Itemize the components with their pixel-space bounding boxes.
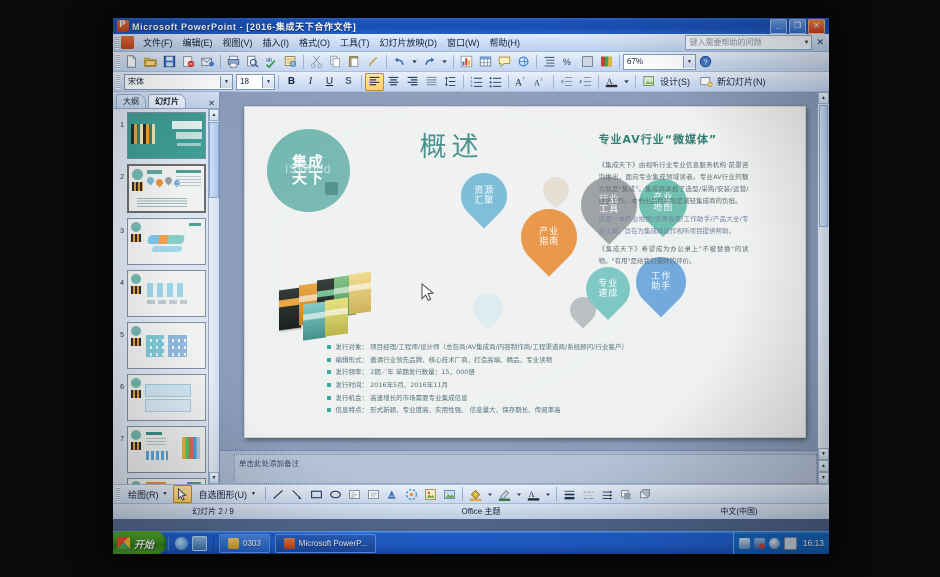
- font-size-combo[interactable]: 18 ▼: [236, 74, 275, 90]
- body-paragraph-2: 这是一本产业地图/资源指南/工作助手/产品大全/专业工具，旨在为集成商运作视听项…: [599, 213, 749, 237]
- scroll-down-icon[interactable]: ▼: [209, 472, 219, 484]
- list-item[interactable]: 5: [115, 322, 206, 369]
- pin-label: 产业指南: [538, 227, 558, 248]
- insert-table-icon[interactable]: [476, 53, 495, 71]
- shadow-style-icon[interactable]: [617, 485, 636, 503]
- quick-launch-bar: [168, 536, 214, 551]
- color-swatch-icon[interactable]: [597, 53, 616, 71]
- taskbar: 开始 0303 Microsoft PowerP...: [113, 531, 829, 554]
- menu-view[interactable]: 视图(V): [218, 35, 258, 50]
- network-icon[interactable]: [739, 538, 750, 549]
- bullet-item: 发行对象： 项目经理/工程师/设计师（总包商/AV集成商/内容制作商/工程渠道商…: [327, 341, 757, 354]
- right-section-title[interactable]: 专业AV行业“微媒体”: [599, 131, 718, 147]
- insert-comment-icon[interactable]: [495, 53, 514, 71]
- slide-thumbnail-3[interactable]: [127, 218, 206, 265]
- slide-thumbnail-4[interactable]: [127, 270, 206, 317]
- svg-text:3: 3: [470, 84, 472, 88]
- thumbnail-number: 8: [115, 478, 127, 484]
- open-folder-icon[interactable]: [141, 53, 160, 71]
- print-icon[interactable]: [224, 53, 243, 71]
- chevron-down-icon[interactable]: ▼: [262, 76, 274, 88]
- bullet-item: 编辑形式： 邀请行业领先品牌、核心技术厂商，打造高端、精品、专业读物: [327, 354, 757, 367]
- undo-dropdown-icon[interactable]: [409, 53, 420, 71]
- format-painter-icon[interactable]: [364, 53, 383, 71]
- decrease-font-icon[interactable]: A↓: [531, 73, 550, 91]
- taskbar-item-label: Microsoft PowerP...: [299, 539, 367, 548]
- font-name-combo[interactable]: 宋体 ▼: [124, 74, 233, 90]
- screenshot-root: Microsoft PowerPoint - [2016-集成天下合作文件] _…: [0, 0, 940, 577]
- list-item[interactable]: 3: [115, 218, 206, 265]
- align-right-icon[interactable]: [403, 73, 422, 91]
- scrollbar-thumb[interactable]: [209, 122, 219, 198]
- show-formatting-icon[interactable]: %: [559, 53, 578, 71]
- menu-slideshow[interactable]: 幻灯片放映(D): [375, 35, 443, 50]
- slide-thumbnail-6[interactable]: [127, 374, 206, 421]
- slide-canvas[interactable]: 集成 天下 ISWorld: [244, 106, 806, 438]
- font-color-icon[interactable]: A: [524, 485, 543, 503]
- zoom-value: 67%: [627, 57, 643, 66]
- font-color-icon[interactable]: A: [602, 73, 621, 91]
- font-name-value: 宋体: [128, 76, 144, 87]
- paste-icon[interactable]: [345, 53, 364, 71]
- brand-logo[interactable]: 集成 天下 ISWorld: [267, 129, 350, 212]
- pin-resource-gather[interactable]: 资源汇聚: [451, 163, 516, 228]
- autoshapes-label: 自选图形(U): [196, 488, 249, 501]
- undo-icon[interactable]: [390, 53, 409, 71]
- pin-label: 工作助手: [650, 272, 670, 293]
- thumbnail-number: 2: [115, 164, 127, 181]
- slides-pane-tabs: 大纲 幻灯片 ✕: [113, 92, 219, 109]
- taskbar-item-folder[interactable]: 0303: [219, 534, 270, 553]
- body-text[interactable]: 《集成天下》由视听行业专业信息服务机构·前景咨询推出，面向专业集成领域读者。专业…: [599, 159, 749, 273]
- bullet-item: 发行机会： 高速增长的市场需要专业集成信息: [327, 392, 757, 405]
- textbox-icon[interactable]: [345, 485, 364, 503]
- bullet-list[interactable]: 发行对象： 项目经理/工程师/设计师（总包商/AV集成商/内容制作商/工程渠道商…: [327, 341, 757, 417]
- svg-text:↑: ↑: [522, 76, 525, 82]
- align-center-icon[interactable]: [384, 73, 403, 91]
- close-pane-button[interactable]: ✕: [208, 99, 219, 108]
- draw-menu-button[interactable]: 绘图(R) ▼: [122, 485, 173, 503]
- design-button[interactable]: 设计(S): [639, 73, 696, 91]
- oval-icon[interactable]: [326, 485, 345, 503]
- svg-text:A: A: [529, 489, 535, 498]
- increase-indent-icon[interactable]: [576, 73, 595, 91]
- close-button[interactable]: ✕: [808, 19, 825, 34]
- logo-badge: [325, 182, 338, 195]
- help-icon[interactable]: ?: [696, 53, 715, 71]
- scroll-up-icon[interactable]: ▲: [818, 92, 829, 104]
- line-icon[interactable]: [269, 485, 288, 503]
- research-icon[interactable]: [281, 53, 300, 71]
- menu-help[interactable]: 帮助(H): [485, 35, 526, 50]
- slide-stage: 集成 天下 ISWorld: [220, 92, 829, 450]
- redo-dropdown-icon[interactable]: [439, 53, 450, 71]
- start-button[interactable]: 开始: [113, 532, 166, 554]
- svg-text:%: %: [563, 57, 571, 67]
- thumbnail-number: 4: [115, 270, 127, 287]
- slide-title[interactable]: 概述: [420, 125, 484, 164]
- chevron-down-icon: ▼: [249, 491, 258, 497]
- notes-placeholder[interactable]: 单击此处添加备注: [234, 454, 817, 484]
- list-item[interactable]: 2: [115, 164, 206, 213]
- body-paragraph-1: 《集成天下》由视听行业专业信息服务机构·前景咨询推出，面向专业集成领域读者。专业…: [599, 159, 749, 207]
- email-icon[interactable]: [198, 53, 217, 71]
- hyperlink-icon[interactable]: [514, 53, 533, 71]
- menu-tools[interactable]: 工具(T): [335, 35, 375, 50]
- line-style-icon[interactable]: [560, 485, 579, 503]
- svg-text:A: A: [515, 78, 522, 88]
- list-item[interactable]: 6: [115, 374, 206, 421]
- autoshapes-menu-button[interactable]: 自选图形(U) ▼: [192, 485, 261, 503]
- insert-chart-icon[interactable]: [457, 53, 476, 71]
- scroll-down-icon[interactable]: ▼: [818, 448, 829, 460]
- fill-color-dropdown-icon[interactable]: [485, 485, 495, 503]
- folder-icon: [228, 538, 239, 549]
- design-label: 设计(S): [658, 75, 692, 88]
- close-document-button[interactable]: ✕: [814, 37, 826, 48]
- thumbnail-number: 6: [115, 374, 127, 391]
- new-document-icon[interactable]: [122, 53, 141, 71]
- arrow-icon[interactable]: [288, 485, 307, 503]
- redo-icon[interactable]: [420, 53, 439, 71]
- pin-label: 专业速成: [597, 279, 617, 300]
- slides-pane: 大纲 幻灯片 ✕ 1: [113, 92, 220, 484]
- scrollbar-thumb[interactable]: [819, 105, 828, 227]
- zoom-combo[interactable]: 67% ▼: [623, 54, 696, 70]
- windows-logo-icon: [117, 537, 130, 549]
- fill-color-icon[interactable]: [466, 485, 485, 503]
- theme-name[interactable]: Office 主题: [313, 506, 649, 517]
- bullet-item: 发行频率： 2期／年 单期发行数量：15，000册: [327, 366, 757, 379]
- list-item[interactable]: 4: [115, 270, 206, 317]
- wordart-icon[interactable]: [383, 485, 402, 503]
- start-label: 开始: [134, 536, 154, 551]
- arrow-style-icon[interactable]: [598, 485, 617, 503]
- taskbar-item-powerpoint[interactable]: Microsoft PowerP...: [275, 534, 376, 553]
- cut-icon[interactable]: [307, 53, 326, 71]
- status-bar: 幻灯片 2 / 9 Office 主题 中文(中国): [113, 503, 829, 519]
- bold-label: B: [286, 76, 297, 87]
- restore-button[interactable]: ❐: [789, 19, 806, 34]
- chevron-down-icon[interactable]: ▼: [683, 56, 695, 68]
- new-slide-label: 新幻灯片(N): [715, 75, 768, 88]
- show-hide-grid-icon[interactable]: [578, 53, 597, 71]
- editor-scrollbar[interactable]: ▲ ▼ ▲ ▼: [817, 92, 829, 484]
- rectangle-icon[interactable]: [307, 485, 326, 503]
- select-arrow-icon[interactable]: [173, 485, 192, 503]
- thumbnail-number: 3: [115, 218, 127, 235]
- increase-font-icon[interactable]: A↑: [512, 73, 531, 91]
- menu-edit[interactable]: 编辑(E): [178, 35, 218, 50]
- help-search-placeholder: 键入需要帮助的问题: [689, 37, 761, 48]
- align-left-icon[interactable]: [365, 73, 384, 91]
- system-tray: 16:13: [733, 532, 829, 554]
- diagram-icon[interactable]: [402, 485, 421, 503]
- tab-outline[interactable]: 大纲: [116, 94, 146, 108]
- italic-button[interactable]: I: [301, 73, 320, 91]
- logo-english: ISWorld: [271, 162, 346, 176]
- input-method-icon[interactable]: [784, 537, 797, 550]
- font-color-dropdown-icon[interactable]: [621, 73, 632, 91]
- slide-thumbnail-list: 1 2: [113, 109, 219, 484]
- drawing-toolbar-drag-handle[interactable]: [116, 487, 120, 502]
- slide-thumbnail-1[interactable]: [127, 112, 206, 159]
- shadow-button[interactable]: S: [339, 73, 358, 91]
- svg-text:↓: ↓: [541, 77, 544, 83]
- powerpoint-icon: [284, 538, 295, 549]
- expand-all-icon[interactable]: [540, 53, 559, 71]
- show-desktop-icon[interactable]: [192, 536, 207, 551]
- menubar-drag-handle[interactable]: [115, 36, 119, 49]
- slide-thumbnail-8[interactable]: [127, 478, 206, 484]
- scroll-up-icon[interactable]: ▲: [209, 109, 219, 121]
- window-title: Microsoft PowerPoint - [2016-集成天下合作文件]: [132, 20, 356, 33]
- vertical-textbox-icon[interactable]: [364, 485, 383, 503]
- clipart-icon[interactable]: [421, 485, 440, 503]
- help-search-input[interactable]: 键入需要帮助的问题 ▼: [685, 35, 812, 50]
- internet-explorer-icon[interactable]: [175, 537, 188, 550]
- chevron-down-icon: ▼: [804, 40, 810, 46]
- shadow-label: S: [343, 76, 354, 87]
- line-spacing-icon[interactable]: [441, 73, 460, 91]
- save-icon[interactable]: [160, 53, 179, 71]
- window-titlebar: Microsoft PowerPoint - [2016-集成天下合作文件] _…: [113, 18, 829, 34]
- line-color-icon[interactable]: [495, 485, 514, 503]
- justify-icon[interactable]: [422, 73, 441, 91]
- network-error-icon[interactable]: [754, 538, 765, 549]
- list-item[interactable]: 8: [115, 478, 206, 484]
- standard-toolbar: ab: [113, 52, 829, 72]
- pin-label: 资源汇聚: [473, 186, 493, 207]
- permission-icon[interactable]: [179, 53, 198, 71]
- slide-thumbnail-5[interactable]: [127, 322, 206, 369]
- svg-text:?: ?: [704, 57, 708, 66]
- taskbar-item-label: 0303: [243, 539, 261, 548]
- pin-industry-guide[interactable]: 产业指南: [509, 197, 588, 276]
- svg-text:ab: ab: [266, 58, 272, 64]
- picture-icon[interactable]: [440, 485, 459, 503]
- list-item[interactable]: 1: [115, 112, 206, 159]
- minimize-icon: _: [776, 22, 780, 30]
- slide-thumbnail-2[interactable]: [127, 164, 206, 213]
- slide-counter: 幻灯片 2 / 9: [113, 506, 313, 517]
- book-stack-image[interactable]: [279, 267, 389, 339]
- slide-editor: 集成 天下 ISWorld: [220, 92, 829, 484]
- formatting-toolbar: 宋体 ▼ 18 ▼ B I U S: [113, 72, 829, 92]
- line-color-dropdown-icon[interactable]: [514, 485, 524, 503]
- spelling-check-icon[interactable]: ab: [262, 53, 281, 71]
- language-indicator[interactable]: 中文(中国): [649, 506, 829, 517]
- copy-icon[interactable]: [326, 53, 345, 71]
- numbering-icon[interactable]: 123: [467, 73, 486, 91]
- drawing-toolbar: 绘图(R) ▼ 自选图形(U) ▼: [113, 484, 829, 503]
- chevron-down-icon: ▼: [161, 491, 170, 497]
- body-paragraph-3: 《集成天下》希望成为办公桌上"不被替换"的读物。"有用"是给我们最好的评价。: [599, 243, 749, 267]
- slides-pane-scrollbar[interactable]: ▲ ▼: [208, 109, 219, 484]
- toolbar-drag-handle[interactable]: [116, 54, 120, 69]
- formatting-toolbar-drag-handle[interactable]: [116, 74, 120, 89]
- security-icon[interactable]: [769, 538, 780, 549]
- menubar: 文件(F) 编辑(E) 视图(V) 插入(I) 格式(O) 工具(T) 幻灯片放…: [113, 34, 829, 52]
- slide-thumbnail-7[interactable]: [127, 426, 206, 473]
- thumbnail-number: 1: [115, 112, 127, 129]
- list-item[interactable]: 7: [115, 426, 206, 473]
- tab-slides[interactable]: 幻灯片: [148, 94, 186, 108]
- taskbar-clock[interactable]: 16:13: [801, 538, 824, 548]
- powerpoint-icon: [117, 20, 129, 32]
- svg-text:A: A: [607, 77, 613, 86]
- chevron-down-icon[interactable]: ▼: [220, 76, 232, 88]
- font-color-dropdown-icon[interactable]: [543, 485, 553, 503]
- menu-window[interactable]: 窗口(W): [442, 35, 485, 50]
- dash-style-icon[interactable]: [579, 485, 598, 503]
- close-icon: ✕: [813, 22, 820, 30]
- thumbnail-number: 7: [115, 426, 127, 443]
- underline-button[interactable]: U: [320, 73, 339, 91]
- draw-label: 绘图(R): [126, 488, 161, 501]
- new-slide-button[interactable]: 新幻灯片(N): [696, 73, 772, 91]
- 3d-style-icon[interactable]: [636, 485, 655, 503]
- thumbnail-number: 5: [115, 322, 127, 339]
- document-icon: [121, 36, 134, 49]
- notes-pane: 单击此处添加备注: [220, 450, 829, 484]
- minimize-button[interactable]: _: [770, 19, 787, 34]
- menu-format[interactable]: 格式(O): [294, 35, 335, 50]
- font-size-value: 18: [240, 77, 249, 86]
- decor-blob-pale: [466, 287, 508, 329]
- svg-text:A: A: [534, 79, 540, 88]
- next-slide-icon[interactable]: ▼: [818, 472, 829, 484]
- restore-icon: ❐: [794, 22, 801, 30]
- bullet-item: 发行时间： 2016年5月、2016年11月: [327, 379, 757, 392]
- underline-label: U: [324, 76, 335, 87]
- previous-slide-icon[interactable]: ▲: [818, 460, 829, 472]
- bullets-icon[interactable]: [486, 73, 505, 91]
- desktop-projection: Microsoft PowerPoint - [2016-集成天下合作文件] _…: [113, 18, 829, 554]
- decor-blob-beige: [537, 172, 574, 209]
- bold-button[interactable]: B: [282, 73, 301, 91]
- decrease-indent-icon[interactable]: [557, 73, 576, 91]
- bullet-item: 信息特点： 形式新颖、专业度高、实用性强、 信息量大、保存期长、传阅率高: [327, 404, 757, 417]
- work-area: 大纲 幻灯片 ✕ 1: [113, 92, 829, 484]
- print-preview-icon[interactable]: [243, 53, 262, 71]
- menu-insert[interactable]: 插入(I): [258, 35, 295, 50]
- menu-file[interactable]: 文件(F): [138, 35, 178, 50]
- italic-label: I: [307, 76, 314, 87]
